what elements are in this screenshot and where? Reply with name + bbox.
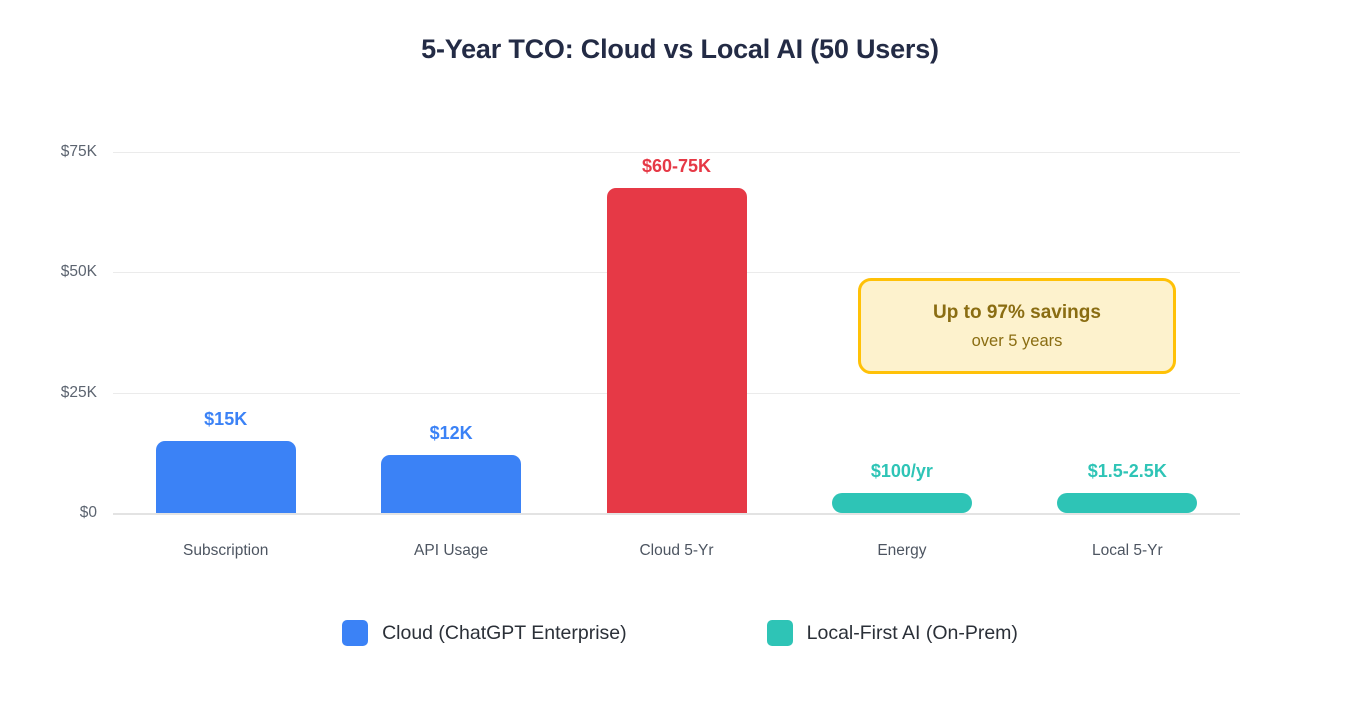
savings-annotation: Up to 97% savings over 5 years — [858, 278, 1176, 374]
bar-value-label: $60-75K — [642, 156, 711, 177]
x-axis-tick-label: Cloud 5-Yr — [639, 542, 713, 560]
gridline — [113, 513, 1240, 515]
x-axis-tick-label: Energy — [877, 542, 926, 560]
legend-swatch-icon — [767, 620, 793, 646]
page-title: 5-Year TCO: Cloud vs Local AI (50 Users) — [0, 34, 1360, 65]
bar-value-label: $12K — [430, 423, 473, 444]
y-axis-tick-label: $75K — [17, 143, 97, 161]
chart-legend: Cloud (ChatGPT Enterprise)Local-First AI… — [0, 620, 1360, 646]
bar-value-label: $100/yr — [871, 461, 933, 482]
bar-value-label: $15K — [204, 409, 247, 430]
bar[interactable] — [607, 188, 747, 513]
legend-swatch-icon — [342, 620, 368, 646]
x-axis-tick-label: API Usage — [414, 542, 488, 560]
y-axis-tick-label: $0 — [17, 504, 97, 522]
annotation-subtext: over 5 years — [972, 332, 1063, 351]
bar[interactable] — [832, 493, 972, 513]
annotation-headline: Up to 97% savings — [933, 302, 1101, 324]
y-axis-tick-label: $25K — [17, 384, 97, 402]
legend-label: Local-First AI (On-Prem) — [807, 622, 1018, 645]
bar-group[interactable]: $60-75K — [607, 100, 747, 513]
x-axis-tick-label: Subscription — [183, 542, 268, 560]
y-axis-tick-label: $50K — [17, 263, 97, 281]
bar-group[interactable]: $15K — [156, 100, 296, 513]
x-axis: SubscriptionAPI UsageCloud 5-YrEnergyLoc… — [113, 542, 1240, 568]
bar[interactable] — [1057, 493, 1197, 513]
bar[interactable] — [156, 441, 296, 513]
bar-group[interactable]: $12K — [381, 100, 521, 513]
bar-value-label: $1.5-2.5K — [1088, 461, 1167, 482]
legend-label: Cloud (ChatGPT Enterprise) — [382, 622, 627, 645]
legend-item[interactable]: Local-First AI (On-Prem) — [767, 620, 1018, 646]
x-axis-tick-label: Local 5-Yr — [1092, 542, 1163, 560]
legend-item[interactable]: Cloud (ChatGPT Enterprise) — [342, 620, 627, 646]
bar[interactable] — [381, 455, 521, 513]
